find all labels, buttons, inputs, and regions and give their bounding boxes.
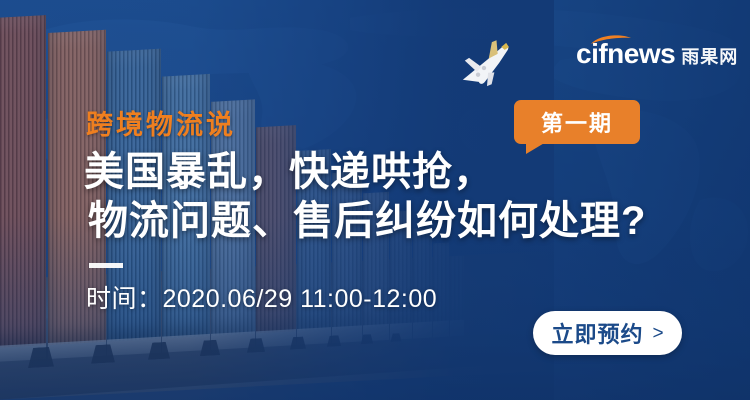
reserve-now-button[interactable]: 立即预约 > (533, 311, 682, 355)
headline-line-2: 物流问题、售后纠纷如何处理? (88, 197, 646, 246)
series-kicker: 跨境物流说 (86, 103, 236, 142)
headline: 美国暴乱，快递哄抢， 物流问题、售后纠纷如何处理? (84, 148, 646, 246)
cifnews-logo[interactable]: cifnews 雨果网 (576, 40, 738, 68)
orange-swoosh-icon (590, 33, 632, 45)
episode-badge: 第一期 (514, 100, 640, 144)
promo-banner: cifnews 雨果网 第一期 跨境物流说 美国暴乱，快递哄抢， 物流问题、售后… (0, 0, 750, 400)
chevron-right-icon: > (652, 324, 663, 343)
logo-mark: cifnews (576, 40, 675, 68)
episode-badge-label: 第一期 (541, 106, 613, 138)
reserve-now-label: 立即预约 (551, 317, 643, 349)
divider-rule (89, 263, 123, 268)
logo-chinese-name: 雨果网 (681, 48, 738, 66)
event-time: 时间：2020.06/29 11:00-12:00 (86, 279, 437, 315)
headline-line-1: 美国暴乱，快递哄抢， (84, 148, 646, 197)
